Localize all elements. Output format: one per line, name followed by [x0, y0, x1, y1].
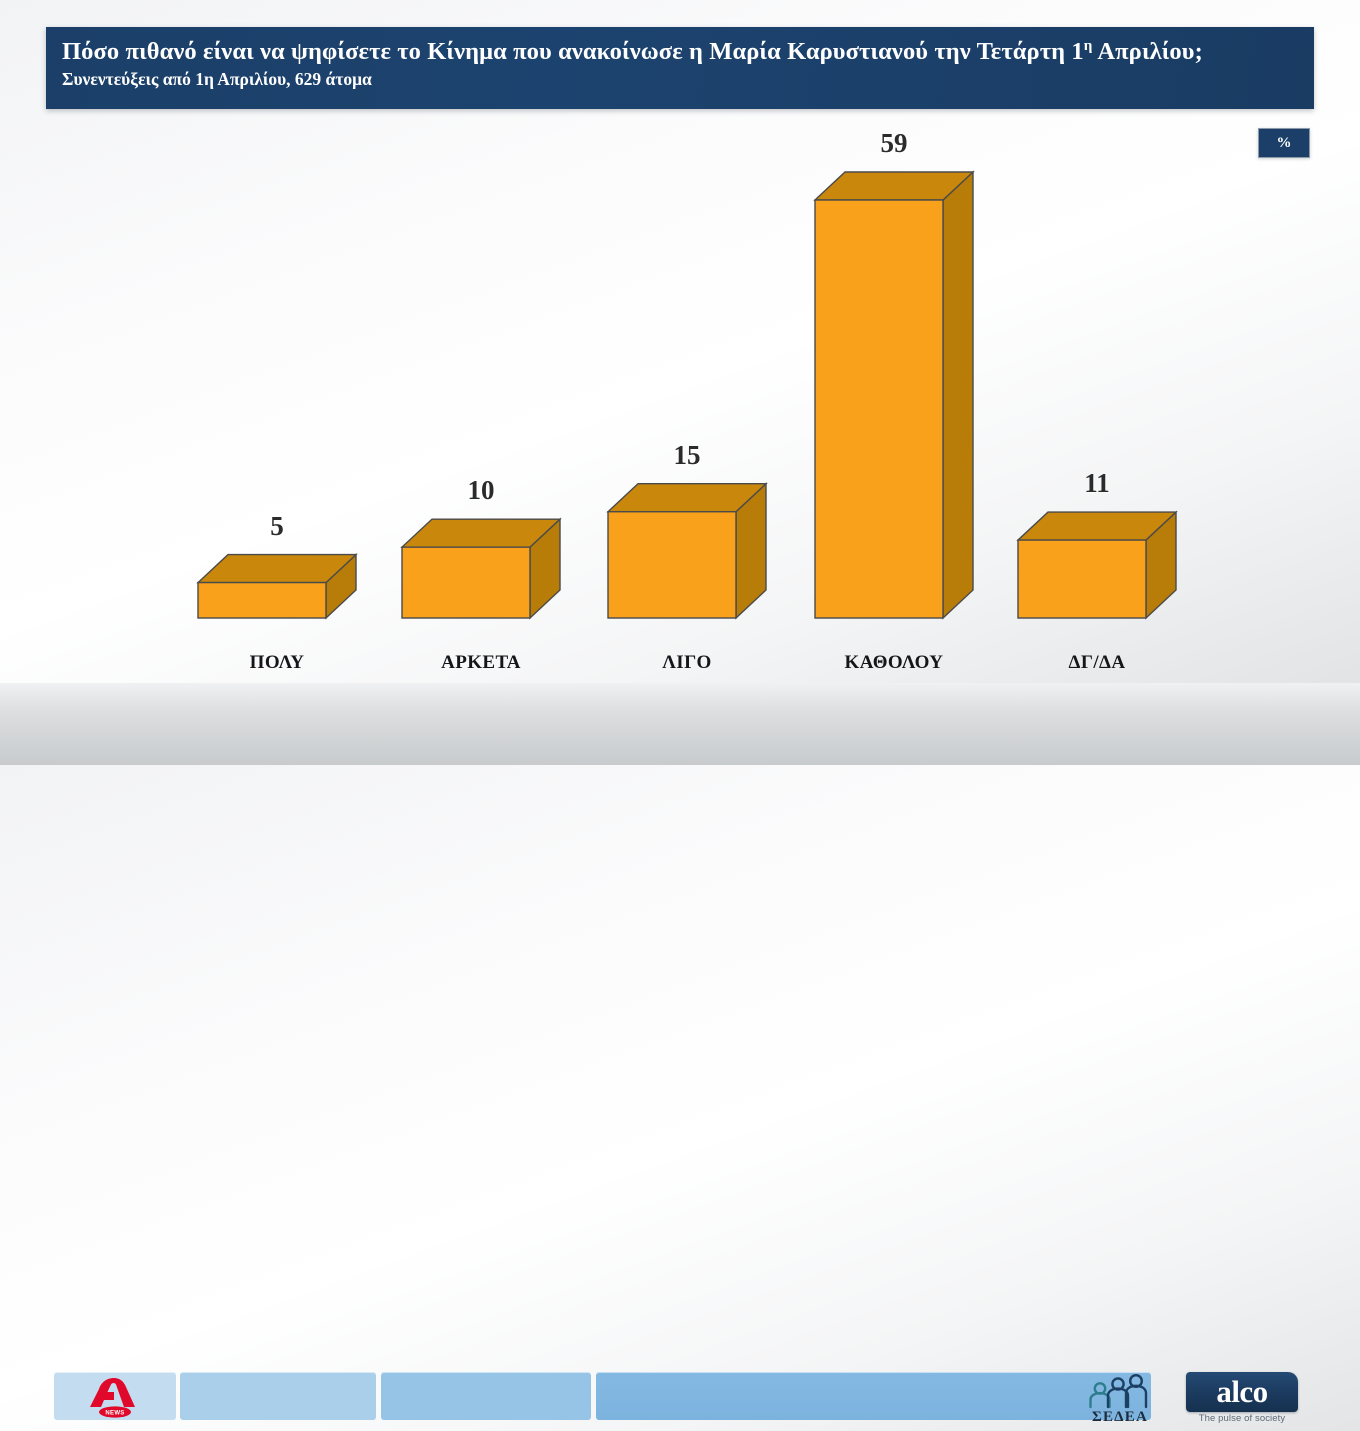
footer-bar: NEWS ΣΕΔΕΑ alco The pulse of society: [0, 683, 1360, 765]
bar-category-label: ΑΡΚΕΤΑ: [362, 652, 600, 674]
svg-text:NEWS: NEWS: [105, 1410, 124, 1416]
alpha-news-logo: NEWS: [84, 1376, 146, 1418]
bar-λιγο: [608, 484, 766, 618]
bar-chart: 5ΠΟΛΥ10ΑΡΚΕΤΑ15ΛΙΓΟ59ΚΑΘΟΛΟΥ11ΔΓ/ΔΑ: [0, 0, 1360, 690]
bar-front-face: [1018, 540, 1146, 618]
alco-logo: alco The pulse of society: [1186, 1372, 1304, 1426]
bar-front-face: [815, 200, 943, 618]
bar-category-label: ΠΟΛΥ: [158, 652, 396, 674]
bar-αρκετα: [402, 519, 560, 618]
bar-καθολου: [815, 172, 973, 618]
bars-svg: [0, 0, 1360, 690]
footer-segment-3: [381, 1372, 591, 1420]
sedea-logo: ΣΕΔΕΑ: [1076, 1374, 1164, 1426]
footer-segment-4: [596, 1372, 1151, 1420]
alpha-news-logo-icon: NEWS: [84, 1376, 146, 1418]
bar-category-label: ΔΓ/ΔΑ: [978, 652, 1216, 674]
bar-front-face: [608, 512, 736, 618]
bar-πολυ: [198, 555, 356, 618]
footer-segment-2: [180, 1372, 376, 1420]
bar-δγ-δα: [1018, 512, 1176, 618]
bar-category-label: ΛΙΓΟ: [568, 652, 806, 674]
bar-front-face: [402, 547, 530, 618]
sedea-label: ΣΕΔΕΑ: [1092, 1409, 1148, 1425]
alco-tagline: The pulse of society: [1186, 1413, 1298, 1424]
alco-wordmark: alco: [1186, 1372, 1298, 1412]
bar-front-face: [198, 583, 326, 618]
sedea-logo-icon: ΣΕΔΕΑ: [1076, 1374, 1164, 1426]
bar-side-face: [943, 172, 973, 618]
